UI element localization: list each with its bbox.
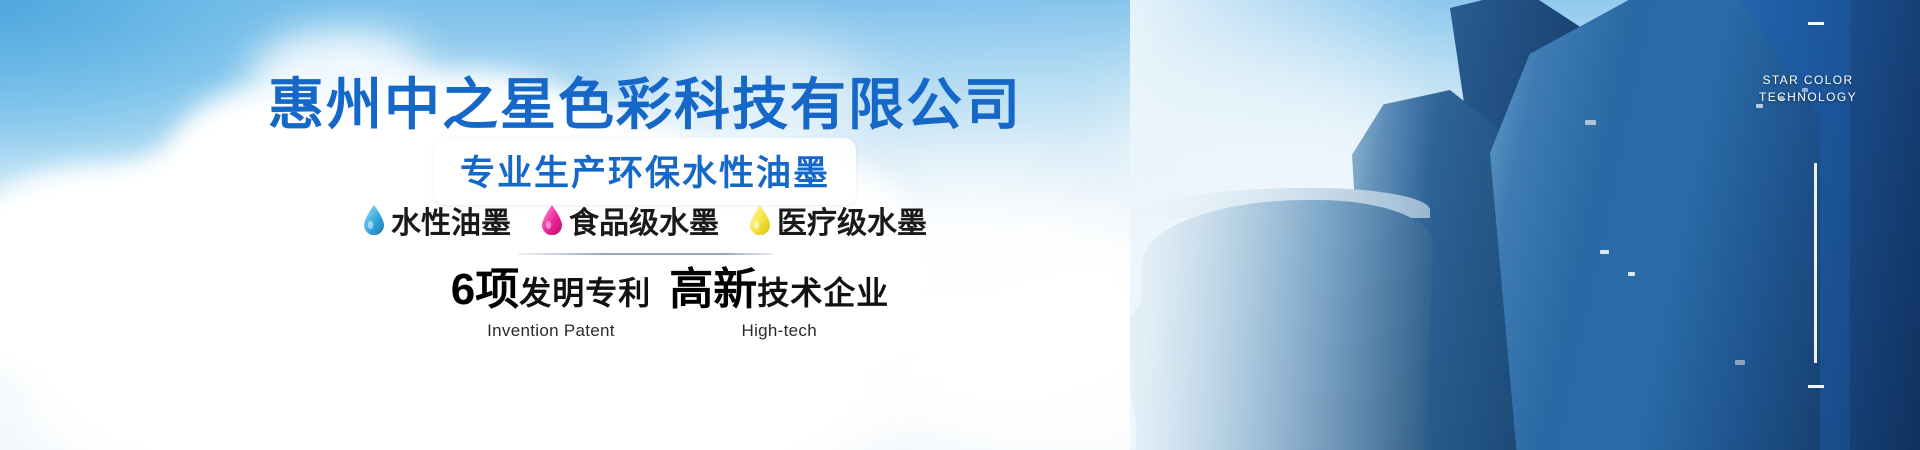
credential-item: 高新技术企业 High-tech: [669, 268, 889, 341]
building-right-edge: [1850, 0, 1920, 450]
feature-label: 食品级水墨: [569, 198, 719, 242]
credential-item: 6项发明专利 Invention Patent: [451, 268, 652, 341]
water-drop-icon: [749, 205, 771, 235]
feature-item: 水性油墨: [363, 198, 511, 242]
corner-brand-text: STAR COLOR TECHNOLOGY: [1742, 72, 1874, 106]
promo-banner: Star Color STAR COLOR TECHNOLOGY 惠州中之星色彩…: [0, 0, 1920, 450]
credential-suffix: 发明专利: [519, 275, 651, 311]
corner-brand-line1: STAR COLOR: [1742, 72, 1874, 89]
building-main-tower: [1490, 0, 1820, 450]
credential-prefix: 高新: [669, 265, 757, 314]
feature-label: 医疗级水墨: [777, 198, 927, 242]
water-drop-icon: [363, 205, 385, 235]
window-light: [1600, 250, 1609, 254]
brand-dash-top: [1808, 22, 1824, 25]
feature-item: 食品级水墨: [541, 198, 719, 242]
tagline-badge-wrap: 专业生产环保水性油墨: [0, 138, 1290, 205]
banner-content: 惠州中之星色彩科技有限公司 专业生产环保水性油墨 水性油墨: [0, 0, 1290, 450]
window-light: [1628, 272, 1635, 276]
section-divider: [518, 253, 773, 255]
water-drop-icon: [541, 205, 563, 235]
credential-english: High-tech: [669, 321, 889, 341]
window-light: [1585, 120, 1596, 125]
credential-english: Invention Patent: [451, 321, 652, 341]
credential-chinese: 6项发明专利: [451, 268, 652, 312]
corner-brand-line2: TECHNOLOGY: [1742, 89, 1874, 106]
company-title: 惠州中之星色彩科技有限公司: [0, 60, 1290, 141]
credential-suffix: 技术企业: [757, 275, 889, 311]
feature-item: 医疗级水墨: [749, 198, 927, 242]
credential-prefix: 6项: [451, 265, 519, 314]
feature-list: 水性油墨 食品级水墨: [0, 198, 1290, 242]
feature-label: 水性油墨: [391, 198, 511, 242]
credentials-row: 6项发明专利 Invention Patent 高新技术企业 High-tech: [0, 268, 1290, 341]
brand-dash-bottom: [1808, 385, 1824, 388]
window-light: [1735, 360, 1745, 365]
tagline-badge: 专业生产环保水性油墨: [434, 138, 856, 205]
brand-vertical-rule: [1814, 163, 1817, 363]
credential-chinese: 高新技术企业: [669, 268, 889, 312]
